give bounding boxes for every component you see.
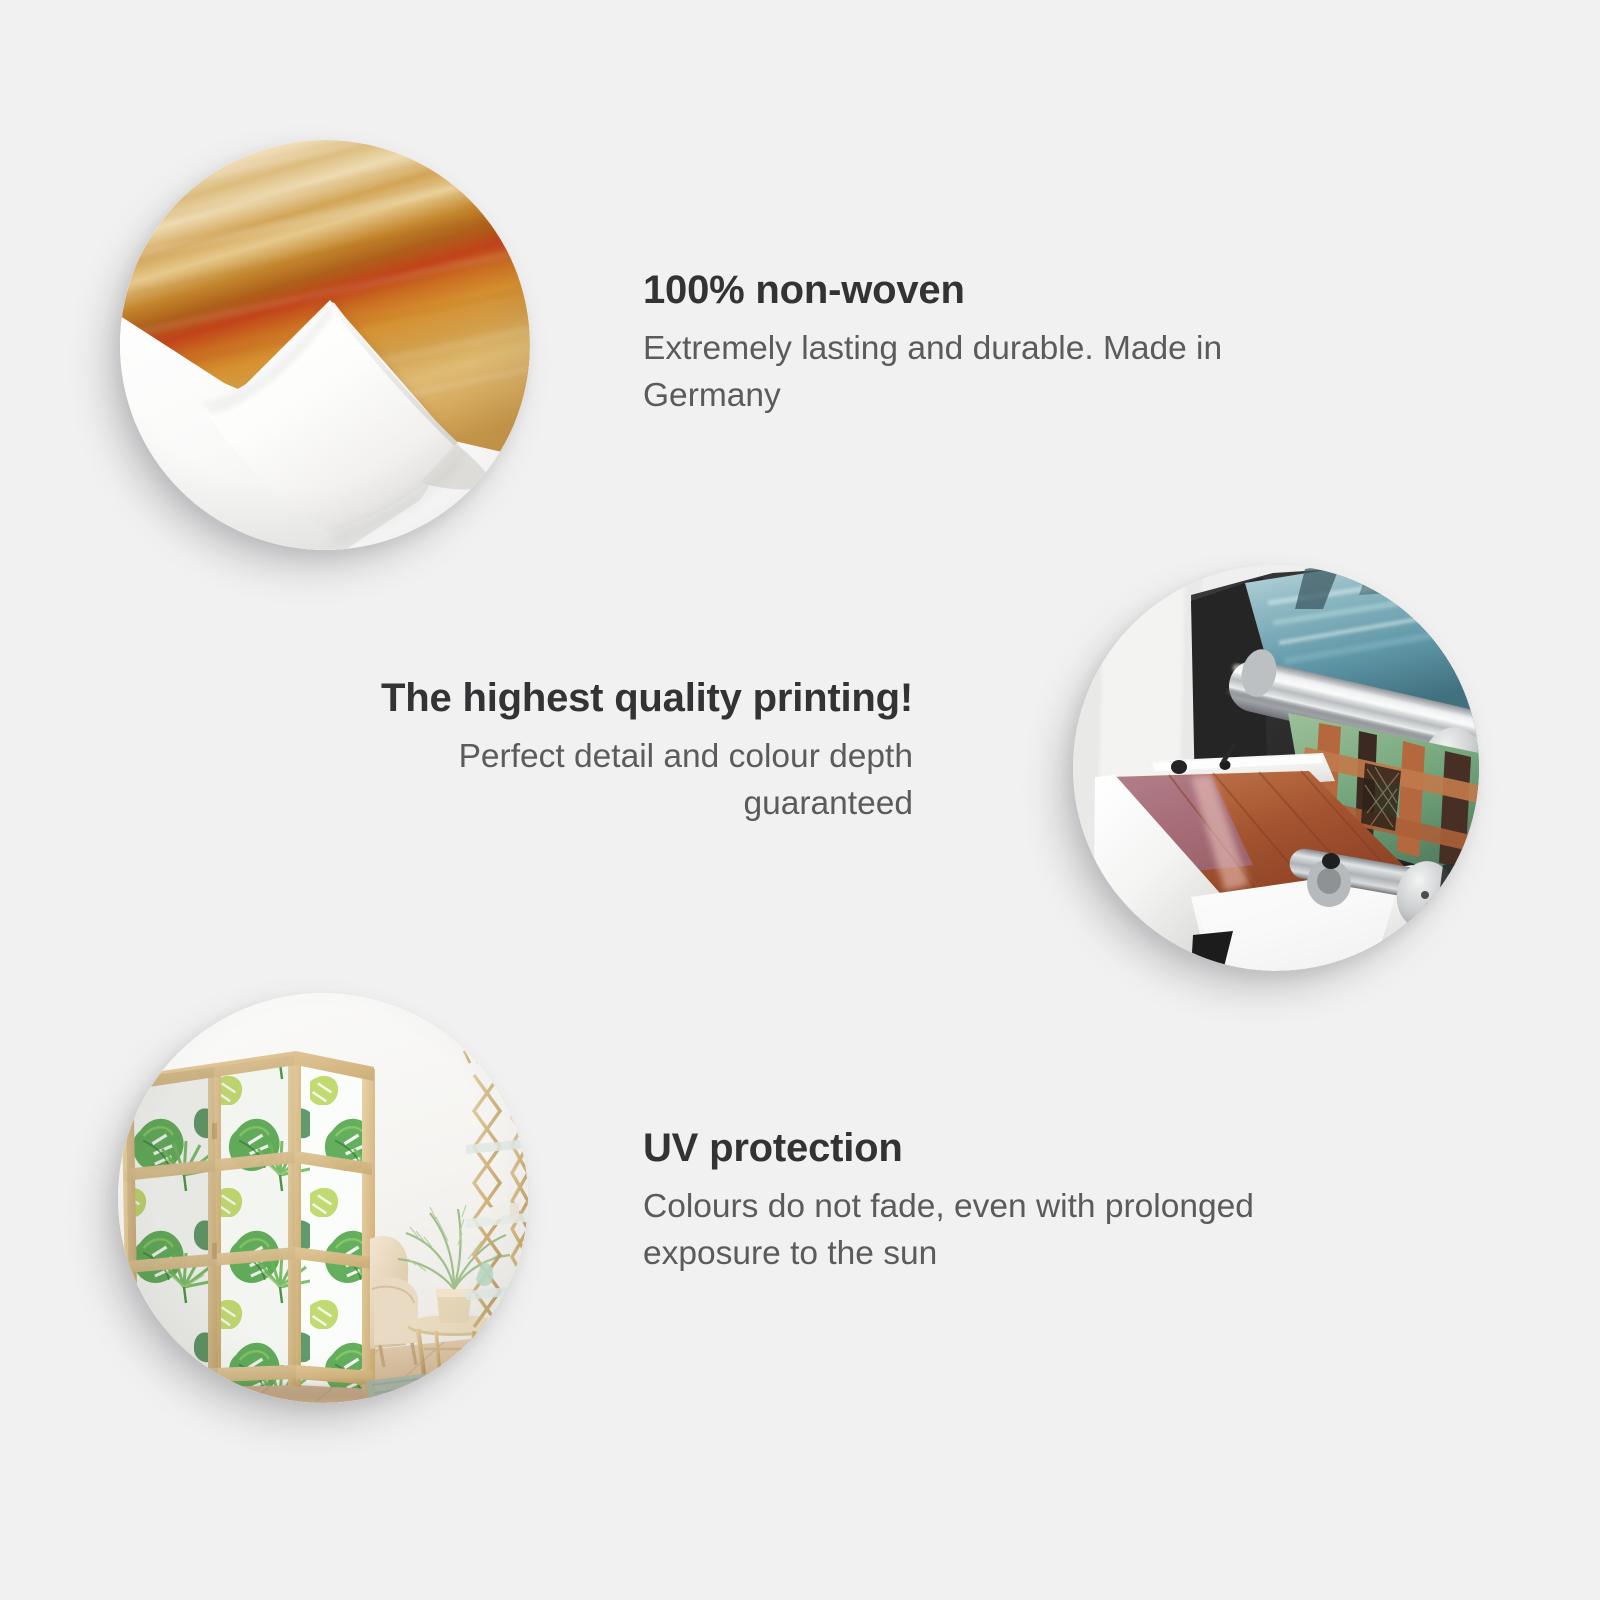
feature-image-uv-protection [118, 993, 528, 1403]
peeling-wallpaper-photo [120, 140, 530, 550]
feature-image-non-woven [120, 140, 530, 550]
feature-heading: The highest quality printing! [311, 676, 913, 721]
feature-body: Colours do not fade, even with prolonged… [643, 1184, 1263, 1278]
feature-body: Perfect detail and colour depth guarante… [311, 734, 913, 828]
printing-machine-photo [1073, 565, 1479, 971]
feature-heading: 100% non-woven [643, 268, 1303, 313]
feature-text-non-woven: 100% non-woven Extremely lasting and dur… [643, 268, 1303, 420]
feature-text-printing-quality: The highest quality printing! Perfect de… [311, 676, 913, 828]
feature-image-printing-quality [1073, 565, 1479, 971]
feature-body: Extremely lasting and durable. Made in G… [643, 326, 1303, 420]
feature-text-uv-protection: UV protection Colours do not fade, even … [643, 1126, 1263, 1278]
room-divider-photo [118, 993, 528, 1403]
feature-heading: UV protection [643, 1126, 1263, 1171]
infographic-stage: 100% non-woven Extremely lasting and dur… [0, 0, 1600, 1600]
